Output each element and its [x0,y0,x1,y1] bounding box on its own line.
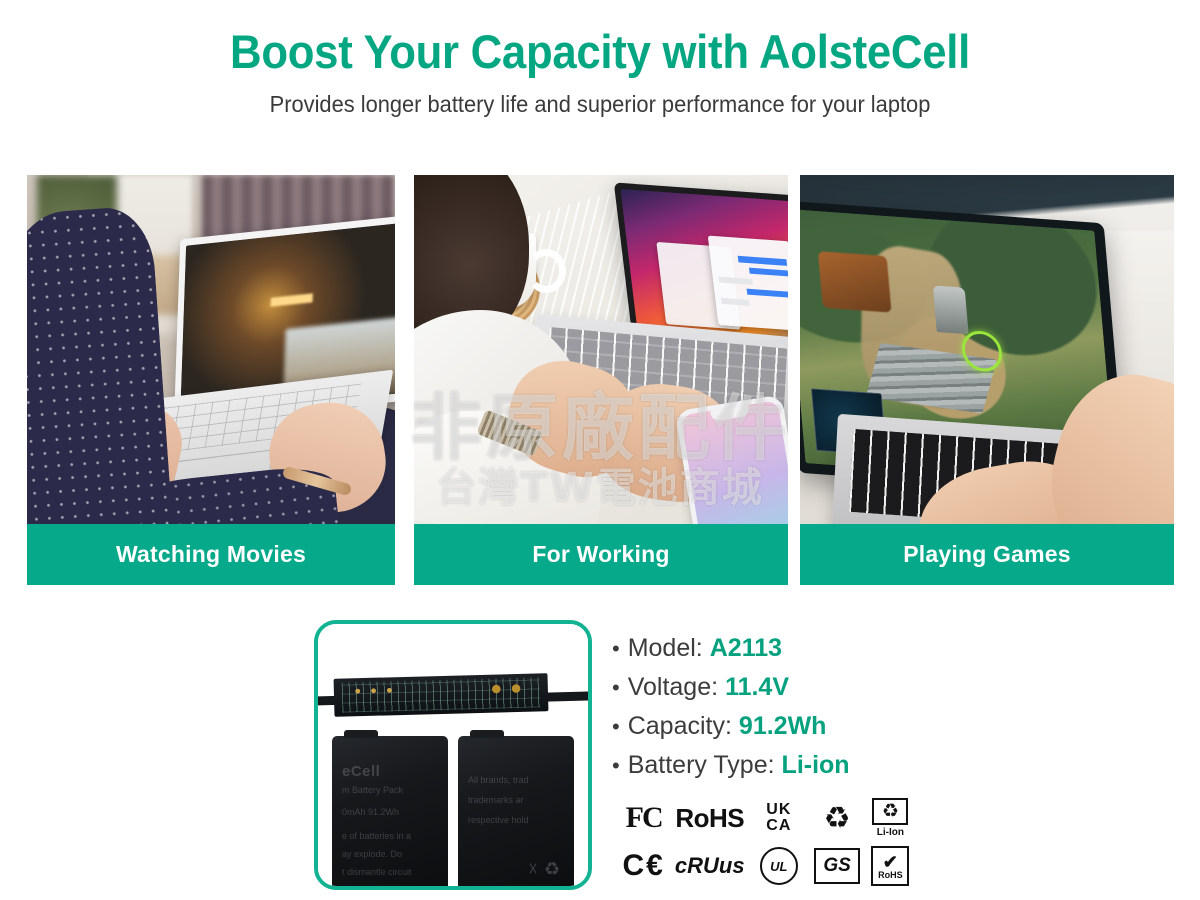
li-ion-recycle-glyph: ♻ [872,798,908,825]
bullet-icon: • [612,755,620,777]
usecase-caption-watching-movies: Watching Movies [27,524,395,585]
spec-row-capacity: • Capacity: 91.2Wh [612,712,1032,741]
rohs-check-icon: ✔ RoHS [865,846,916,886]
bullet-icon: • [612,716,620,738]
battery-notice-line2: trademarks ar [468,792,564,809]
page-header: Boost Your Capacity with AolsteCell Prov… [0,0,1200,118]
battery-cell-right: All brands, trad trademarks ar respectiv… [458,736,574,886]
spec-row-model: • Model: A2113 [612,634,1032,663]
battery-notice-line1: All brands, trad [468,772,564,789]
battery-label-line3: 0mAh 91.2Wh [342,804,438,821]
fcc-icon: FC [616,798,671,838]
certification-row-2: C€ cRUus UL GS ✔ RoHS [616,842,916,890]
li-ion-recycle-icon: ♻ Li-Ion [865,798,916,838]
spec-value-battery-type: Li-ion [782,751,850,780]
usecase-photo-watching-movies [27,175,395,524]
bullet-icon: • [612,677,620,699]
ukca-line1: UK [766,802,791,818]
ukca-line2: CA [766,818,791,834]
product-spec-list: • Model: A2113 • Voltage: 11.4V • Capaci… [612,634,1032,790]
spec-label-battery-type: Battery Type: [628,751,775,780]
usecase-panel-playing-games[interactable]: Playing Games [800,175,1174,585]
usecase-caption-playing-games: Playing Games [800,524,1174,585]
battery-label-line5: ay explode. Do [342,846,438,863]
battery-product-image[interactable]: eCell m Battery Pack 0mAh 91.2Wh e of ba… [314,620,592,890]
ul-circle-text: UL [760,847,798,885]
product-detail-section: eCell m Battery Pack 0mAh 91.2Wh e of ba… [0,612,1200,900]
checkmark-icon: ✔ [883,853,898,871]
spec-value-model: A2113 [710,634,782,663]
page-subtitle: Provides longer battery life and superio… [30,78,1170,118]
spec-value-voltage: 11.4V [725,673,789,702]
ce-icon: C€ [616,846,671,886]
battery-label-line2: m Battery Pack [342,782,438,799]
bullet-icon: • [612,638,620,660]
gs-text: GS [814,848,860,884]
usecase-panel-row: Watching Movies [0,175,1200,585]
spec-label-voltage: Voltage: [628,673,718,702]
rohs-icon: RoHS [671,798,748,838]
ul-us-icon: cRUus [671,846,748,886]
spec-value-capacity: 91.2Wh [739,712,827,741]
li-ion-label: Li-Ion [877,827,904,838]
rohs-check-label: RoHS [878,871,903,880]
battery-notice-line3: respective hold [468,812,564,829]
usecase-photo-playing-games [800,175,1174,524]
spec-row-battery-type: • Battery Type: Li-ion [612,751,1032,780]
ul-circle-icon: UL [748,846,809,886]
certification-row-1: FC RoHS UK CA ♻ ♻ Li-Ion [616,794,916,842]
battery-cell-left: eCell m Battery Pack 0mAh 91.2Wh e of ba… [332,736,448,886]
battery-warning-symbols: ☓♻ [528,859,566,880]
gs-icon: GS [809,846,864,886]
page-title: Boost Your Capacity with AolsteCell [42,0,1158,78]
rohs-check-box: ✔ RoHS [871,846,909,886]
usecase-panel-watching-movies[interactable]: Watching Movies [27,175,395,585]
spec-label-model: Model: [628,634,703,663]
usecase-caption-for-working: For Working [414,524,788,585]
spec-row-voltage: • Voltage: 11.4V [612,673,1032,702]
certification-badges: FC RoHS UK CA ♻ ♻ Li-Ion C€ cRUus UL GS [616,794,916,890]
spec-label-capacity: Capacity: [628,712,732,741]
recycle-icon: ♻ [809,798,864,838]
usecase-photo-for-working [414,175,788,524]
battery-label-line6: t dismantle circuit [342,864,438,881]
usecase-panel-for-working[interactable]: For Working [414,175,788,585]
battery-circuit-board [334,673,549,717]
ukca-icon: UK CA [748,798,809,838]
battery-label-line4: e of batteries in a [342,828,438,845]
